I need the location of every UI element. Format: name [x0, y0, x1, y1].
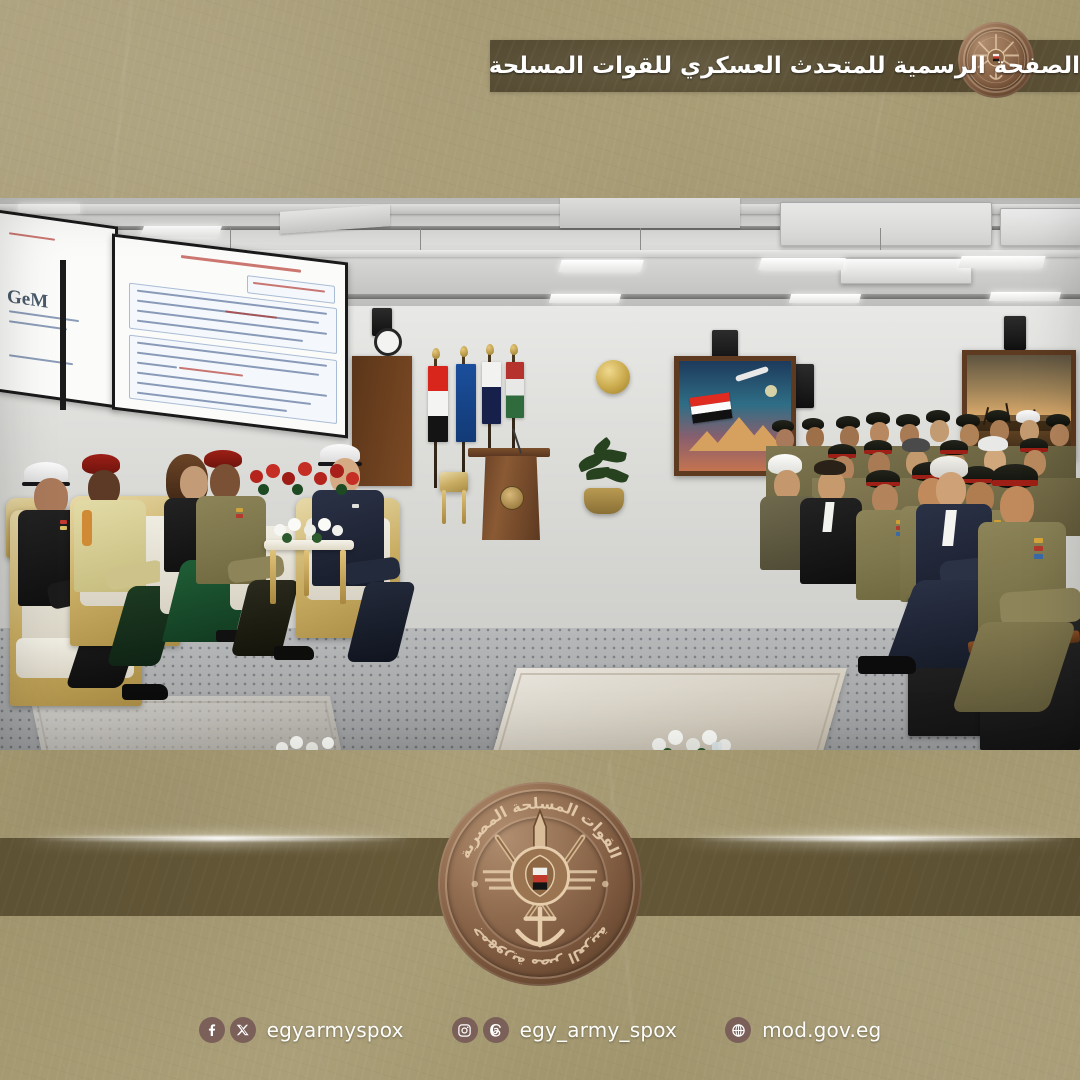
instagram-threads-handle[interactable]: egy_army_spox: [520, 1018, 677, 1042]
white-bouquet: [272, 516, 346, 544]
website-handle[interactable]: mod.gov.eg: [762, 1018, 881, 1042]
globe-icon[interactable]: [725, 1017, 751, 1043]
svg-text:القوات المسلحة المصرية: القوات المسلحة المصرية: [455, 794, 624, 861]
projection-screen-left: GeM: [0, 209, 118, 408]
red-roses: [248, 460, 368, 502]
projection-screen-main: [112, 234, 348, 439]
social-group-facebook-x[interactable]: egyarmyspox: [199, 1017, 404, 1043]
social-links-row: egyarmyspox egy_army_spox: [0, 1008, 1080, 1052]
post-canvas: الصفحة الرسمية للمتحدث العسكري للقوات ال…: [0, 0, 1080, 1080]
facebook-x-handle[interactable]: egyarmyspox: [267, 1018, 404, 1042]
x-twitter-icon[interactable]: [230, 1017, 256, 1043]
instagram-icon[interactable]: [452, 1017, 478, 1043]
coffee-table: [264, 540, 354, 610]
social-group-website[interactable]: mod.gov.eg: [725, 1017, 881, 1043]
water-bottle: [712, 742, 722, 750]
threads-icon[interactable]: [483, 1017, 509, 1043]
white-bouquet: [650, 728, 736, 750]
header-title: الصفحة الرسمية للمتحدث العسكري للقوات ال…: [490, 53, 1080, 79]
white-bouquet: [274, 734, 344, 750]
svg-text:جمهورية مصر العربية: جمهورية مصر العربية: [467, 923, 613, 972]
social-group-instagram-threads[interactable]: egy_army_spox: [452, 1017, 677, 1043]
wall-crest-icon: [596, 360, 630, 394]
footer-emblem-icon: القوات المسلحة المصرية جمهورية مصر العرب…: [438, 782, 642, 986]
event-photo: GeM: [0, 198, 1080, 750]
facebook-icon[interactable]: [199, 1017, 225, 1043]
